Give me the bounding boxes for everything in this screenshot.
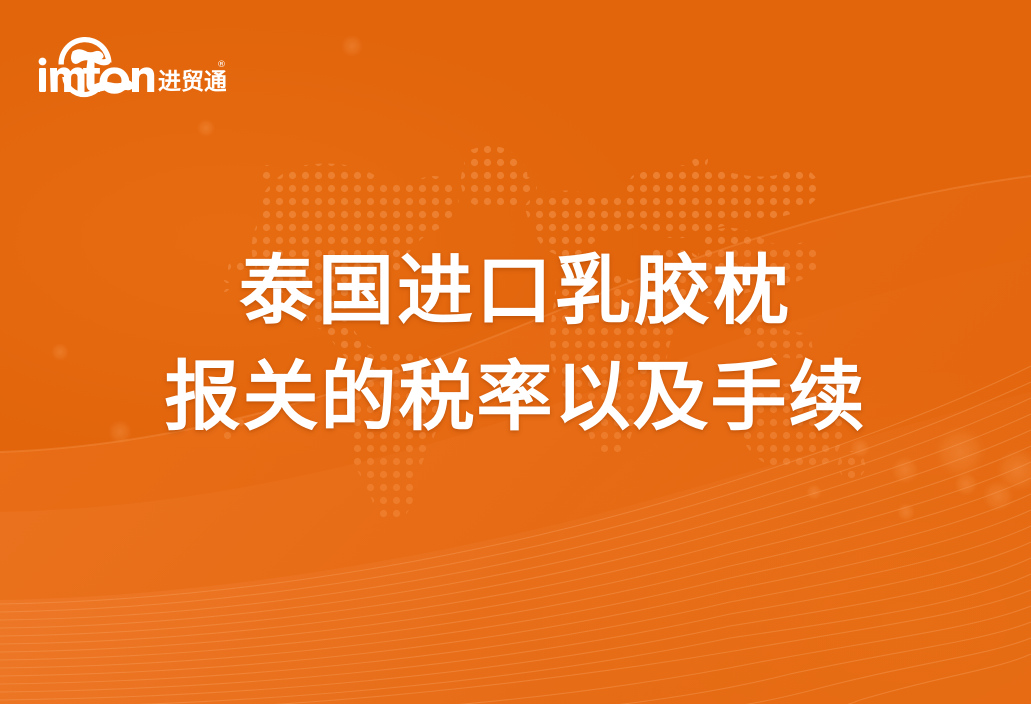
brand-logo[interactable]: 进贸通 ® [36,27,226,105]
promo-banner: 进贸通 ® 泰国进口乳胶枕 报关的税率以及手续 [0,0,1031,704]
registered-trademark-icon: ® [217,60,226,70]
bokeh-circles-decoration [0,0,1031,704]
logo-chinese-name: 进贸通 [158,69,226,95]
